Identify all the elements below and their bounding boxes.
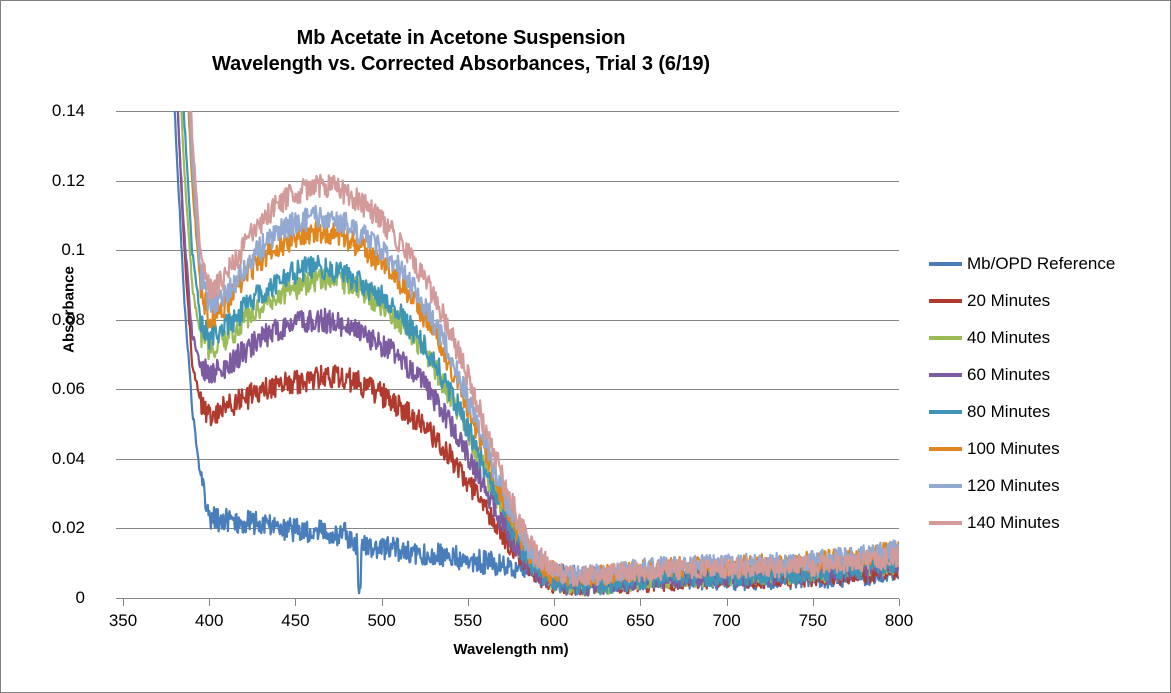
x-axis-tick (554, 599, 555, 606)
y-axis-tick-label: 0.04 (15, 449, 85, 469)
legend-item[interactable]: 120 Minutes (929, 467, 1169, 504)
x-axis-tick (899, 599, 900, 606)
x-axis-tick-label: 450 (260, 611, 330, 631)
plot-area (123, 111, 899, 598)
series-line (186, 111, 898, 586)
y-axis-tick (116, 528, 123, 529)
y-axis-tick (116, 181, 123, 182)
y-axis-tick-label: 0.02 (15, 518, 85, 538)
y-axis-tick-label: 0 (15, 588, 85, 608)
x-axis-tick (727, 599, 728, 606)
legend-item[interactable]: 20 Minutes (929, 282, 1169, 319)
x-axis-tick-label: 400 (174, 611, 244, 631)
legend-item-label: Mb/OPD Reference (967, 255, 1115, 272)
x-axis-tick-label: 800 (864, 611, 934, 631)
legend-item[interactable]: Mb/OPD Reference (929, 245, 1169, 282)
legend-color-swatch (929, 521, 962, 525)
series-layer (123, 111, 899, 598)
chart-title-line-1: Mb Acetate in Acetone Suspension (1, 25, 921, 51)
chart-title-line-2: Wavelength vs. Corrected Absorbances, Tr… (1, 51, 921, 77)
y-axis-tick (116, 250, 123, 251)
legend-item-label: 60 Minutes (967, 366, 1050, 383)
x-axis-tick-label: 600 (519, 611, 589, 631)
y-axis-tick-label: 0.12 (15, 171, 85, 191)
legend-item-label: 140 Minutes (967, 514, 1060, 531)
legend-item-label: 120 Minutes (967, 477, 1060, 494)
legend-item[interactable]: 80 Minutes (929, 393, 1169, 430)
legend-item-label: 20 Minutes (967, 292, 1050, 309)
x-axis-tick (123, 599, 124, 606)
legend-color-swatch (929, 373, 962, 377)
y-axis-tick (116, 598, 123, 599)
x-axis-tick (468, 599, 469, 606)
x-axis-tick-label: 350 (88, 611, 158, 631)
x-axis-title: Wavelength nm) (123, 641, 899, 658)
x-axis-tick (209, 599, 210, 606)
series-line (172, 111, 898, 593)
y-axis-tick (116, 320, 123, 321)
chart-legend: Mb/OPD Reference20 Minutes40 Minutes60 M… (929, 245, 1169, 541)
x-axis-tick-label: 650 (605, 611, 675, 631)
legend-color-swatch (929, 484, 962, 488)
x-axis-tick-label: 550 (433, 611, 503, 631)
x-axis-tick-label: 500 (347, 611, 417, 631)
legend-item[interactable]: 60 Minutes (929, 356, 1169, 393)
legend-item-label: 40 Minutes (967, 329, 1050, 346)
x-axis-tick (295, 599, 296, 606)
legend-item-label: 80 Minutes (967, 403, 1050, 420)
x-axis-tick (640, 599, 641, 606)
x-axis-tick (813, 599, 814, 606)
legend-item[interactable]: 100 Minutes (929, 430, 1169, 467)
legend-color-swatch (929, 262, 962, 266)
series-line (187, 111, 899, 585)
legend-color-swatch (929, 299, 962, 303)
y-axis-tick-label: 0.14 (15, 101, 85, 121)
y-axis-tick-label: 0.06 (15, 379, 85, 399)
y-axis-tick (116, 459, 123, 460)
x-axis-line (123, 598, 899, 599)
x-axis-tick-label: 750 (778, 611, 848, 631)
chart-container: Mb Acetate in Acetone Suspension Wavelen… (0, 0, 1171, 693)
y-axis-tick-label: 0.08 (15, 310, 85, 330)
legend-item-label: 100 Minutes (967, 440, 1060, 457)
legend-item[interactable]: 40 Minutes (929, 319, 1169, 356)
y-axis-tick (116, 389, 123, 390)
series-line (188, 111, 898, 586)
legend-item[interactable]: 140 Minutes (929, 504, 1169, 541)
chart-title: Mb Acetate in Acetone Suspension Wavelen… (1, 25, 921, 78)
x-axis-tick (382, 599, 383, 606)
y-axis-tick-label: 0.1 (15, 240, 85, 260)
y-axis-tick (116, 111, 123, 112)
legend-color-swatch (929, 447, 962, 451)
legend-color-swatch (929, 410, 962, 414)
x-axis-tick-label: 700 (692, 611, 762, 631)
legend-color-swatch (929, 336, 962, 340)
